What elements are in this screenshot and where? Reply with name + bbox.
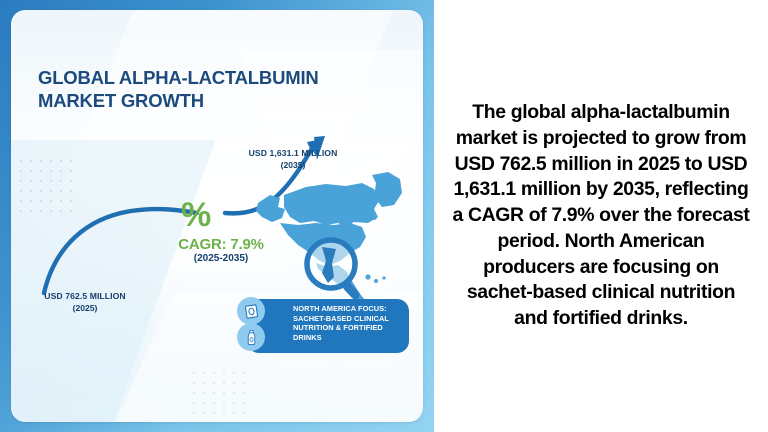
sachet-icon bbox=[237, 297, 265, 325]
end-value-amount: USD 1,631.1 MILLION bbox=[227, 148, 359, 160]
focus-badge-text: NORTH AMERICA FOCUS: SACHET-BASED CLINIC… bbox=[293, 304, 407, 343]
infographic-panel: GLOBAL ALPHA-LACTALBUMIN MARKET GROWTH U… bbox=[0, 0, 434, 432]
summary-panel: The global alpha-lactalbumin market is p… bbox=[434, 0, 768, 432]
infographic-card: GLOBAL ALPHA-LACTALBUMIN MARKET GROWTH U… bbox=[11, 10, 423, 422]
start-value-year: (2025) bbox=[23, 303, 147, 315]
focus-badge: NORTH AMERICA FOCUS: SACHET-BASED CLINIC… bbox=[247, 299, 409, 353]
start-value-callout: USD 762.5 MILLION (2025) bbox=[23, 291, 147, 314]
north-america-map bbox=[254, 165, 414, 315]
bottle-icon bbox=[237, 323, 265, 351]
summary-text: The global alpha-lactalbumin market is p… bbox=[450, 100, 752, 332]
start-value-amount: USD 762.5 MILLION bbox=[23, 291, 147, 303]
percent-symbol-icon: % bbox=[181, 198, 210, 232]
